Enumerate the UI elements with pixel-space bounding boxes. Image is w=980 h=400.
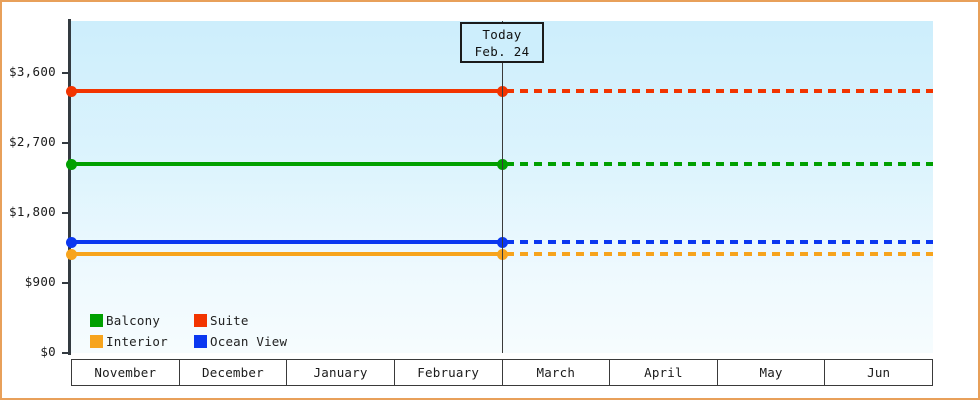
- x-axis-month-cell[interactable]: November: [72, 360, 180, 385]
- x-axis-month-row: NovemberDecemberJanuaryFebruaryMarchApri…: [71, 359, 933, 386]
- series-line-forecast: [506, 162, 933, 166]
- x-axis-month-cell[interactable]: April: [610, 360, 718, 385]
- series-line-actual: [71, 162, 502, 166]
- legend-item-label: Interior: [106, 335, 168, 348]
- series-line-forecast: [506, 240, 933, 244]
- y-axis-tick: [62, 282, 69, 284]
- y-axis-line: [68, 19, 71, 355]
- legend: BalconySuiteInteriorOcean View: [90, 310, 287, 352]
- x-axis-month-cell[interactable]: January: [287, 360, 395, 385]
- series-data-point[interactable]: [66, 159, 77, 170]
- legend-color-swatch: [194, 335, 207, 348]
- series-line-actual: [71, 252, 502, 256]
- legend-item-label: Ocean View: [210, 335, 287, 348]
- y-axis-label: $900: [25, 276, 56, 288]
- y-axis-label: $1,800: [9, 206, 56, 218]
- today-label-line2: Feb. 24: [475, 44, 530, 59]
- legend-color-swatch: [194, 314, 207, 327]
- y-axis-label: $3,600: [9, 66, 56, 78]
- chart-canvas: $3,600$2,700$1,800$900$0 TodayFeb. 24 Ba…: [0, 0, 980, 400]
- legend-item-label: Balcony: [106, 314, 160, 327]
- y-axis-label: $2,700: [9, 136, 56, 148]
- y-axis-tick: [62, 352, 69, 354]
- y-axis-label: $0: [40, 346, 56, 358]
- today-vertical-line: [502, 21, 503, 353]
- series-line-forecast: [506, 252, 933, 256]
- y-axis-tick: [62, 72, 69, 74]
- today-label-line1: Today: [482, 27, 521, 42]
- series-line-actual: [71, 89, 502, 93]
- today-annotation-box: TodayFeb. 24: [460, 22, 544, 63]
- x-axis-month-cell[interactable]: Jun: [825, 360, 933, 385]
- series-data-point[interactable]: [66, 249, 77, 260]
- legend-item[interactable]: Interior: [90, 331, 190, 352]
- legend-item[interactable]: Suite: [194, 310, 287, 331]
- series-data-point[interactable]: [66, 237, 77, 248]
- y-axis-tick: [62, 212, 69, 214]
- x-axis-month-cell[interactable]: May: [718, 360, 826, 385]
- x-axis-month-cell[interactable]: February: [395, 360, 503, 385]
- series-line-actual: [71, 240, 502, 244]
- legend-item[interactable]: Balcony: [90, 310, 190, 331]
- x-axis-month-cell[interactable]: March: [503, 360, 611, 385]
- series-data-point[interactable]: [66, 86, 77, 97]
- legend-item-label: Suite: [210, 314, 249, 327]
- y-axis-tick: [62, 142, 69, 144]
- legend-item[interactable]: Ocean View: [194, 331, 287, 352]
- series-line-forecast: [506, 89, 933, 93]
- legend-color-swatch: [90, 335, 103, 348]
- x-axis-month-cell[interactable]: December: [180, 360, 288, 385]
- legend-color-swatch: [90, 314, 103, 327]
